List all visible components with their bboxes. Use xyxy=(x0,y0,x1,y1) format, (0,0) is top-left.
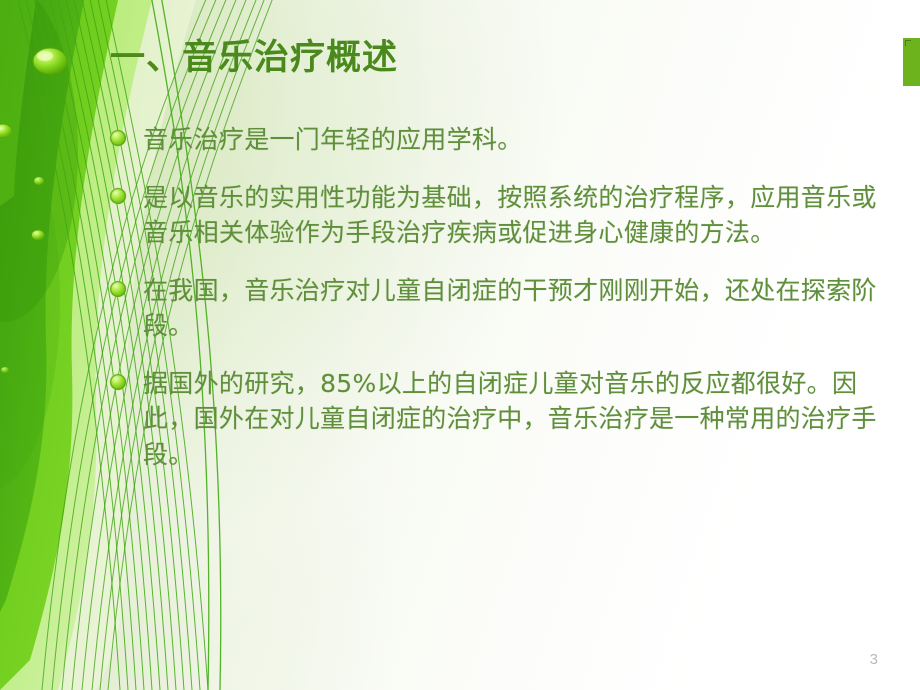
corner-accent-block xyxy=(903,38,920,86)
corner-accent-tick xyxy=(905,40,911,46)
list-item-text: 音乐治疗是一门年轻的应用学科。 xyxy=(143,122,900,158)
bullet-droplet-icon xyxy=(110,281,126,297)
title-number: 一、 xyxy=(110,38,182,78)
bullet-droplet-icon xyxy=(110,374,126,390)
list-item: 音乐治疗是一门年轻的应用学科。 xyxy=(110,122,900,158)
list-item-text: 据国外的研究，85%以上的自闭症儿童对音乐的反应都很好。因此，国外在对儿童自闭症… xyxy=(143,366,900,473)
list-item: 据国外的研究，85%以上的自闭症儿童对音乐的反应都很好。因此，国外在对儿童自闭症… xyxy=(110,366,900,473)
bullet-droplet-icon xyxy=(110,130,126,146)
page-number: 3 xyxy=(870,651,878,668)
list-item-text: 是以音乐的实用性功能为基础，按照系统的治疗程序，应用音乐或音乐相关体验作为手段治… xyxy=(143,180,900,251)
slide-canvas: 一、音乐治疗概述 音乐治疗是一门年轻的应用学科。 是以音乐的实用性功能为基础，按… xyxy=(0,0,920,690)
bullet-list: 音乐治疗是一门年轻的应用学科。 是以音乐的实用性功能为基础，按照系统的治疗程序，… xyxy=(110,122,900,494)
list-item: 在我国，音乐治疗对儿童自闭症的干预才刚刚开始，还处在探索阶段。 xyxy=(110,273,900,344)
bullet-droplet-icon xyxy=(110,188,126,204)
title-text: 音乐治疗概述 xyxy=(182,38,398,78)
list-item-text: 在我国，音乐治疗对儿童自闭症的干预才刚刚开始，还处在探索阶段。 xyxy=(143,273,900,344)
page-title: 一、音乐治疗概述 xyxy=(110,38,398,79)
list-item: 是以音乐的实用性功能为基础，按照系统的治疗程序，应用音乐或音乐相关体验作为手段治… xyxy=(110,180,900,251)
